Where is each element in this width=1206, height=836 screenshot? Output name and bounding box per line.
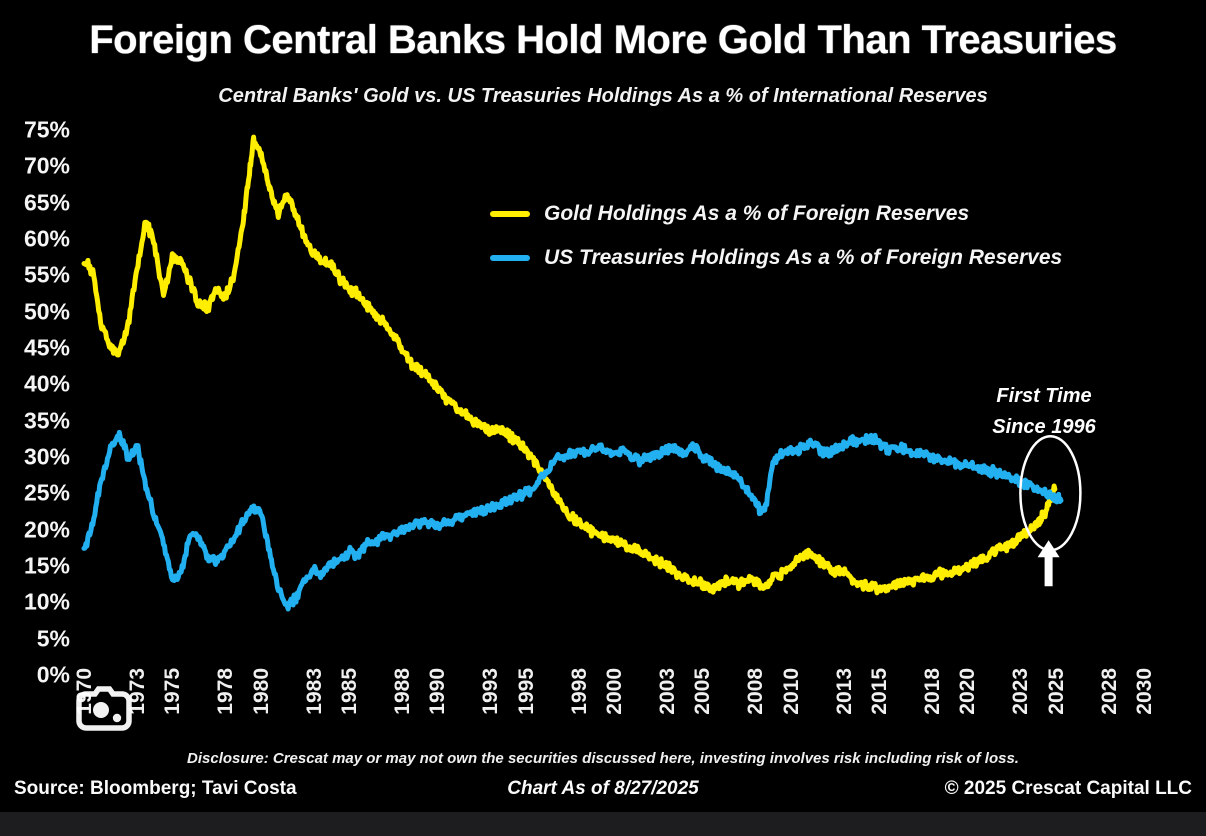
x-axis-tick: 1993 [479,668,503,715]
legend-item-treasuries[interactable]: US Treasuries Holdings As a % of Foreign… [490,236,1062,280]
y-axis-tick: 15% [0,553,70,580]
y-axis: 0%5%10%15%20%25%30%35%40%45%50%55%60%65%… [0,130,78,690]
y-axis-tick: 70% [0,153,70,180]
x-axis-tick: 2005 [691,668,715,715]
x-axis-tick: 1988 [391,668,415,715]
x-axis-tick: 1980 [250,668,274,715]
x-axis-tick: 2015 [868,668,892,715]
y-axis-tick: 50% [0,298,70,325]
y-axis-tick: 25% [0,480,70,507]
x-axis-tick: 2000 [603,668,627,715]
x-axis-tick: 2025 [1045,668,1069,715]
x-axis-tick: 1978 [214,668,238,715]
y-axis-tick: 65% [0,189,70,216]
annotation-line-2: Since 1996 [936,412,1152,443]
x-axis-tick: 2008 [744,668,768,715]
legend-swatch-gold [490,211,530,217]
y-axis-tick: 10% [0,589,70,616]
legend-item-gold[interactable]: Gold Holdings As a % of Foreign Reserves [490,192,1062,236]
chart-root: Foreign Central Banks Hold More Gold Tha… [0,0,1206,836]
x-axis-tick: 2023 [1009,668,1033,715]
annotation-line-1: First Time [936,381,1152,412]
page-subtitle: Central Banks' Gold vs. US Treasuries Ho… [0,85,1206,108]
footer-copyright: © 2025 Crescat Capital LLC [945,778,1192,800]
y-axis-tick: 40% [0,371,70,398]
x-axis-tick: 1975 [161,668,185,715]
bottom-bar [0,812,1206,836]
x-axis-tick: 1990 [426,668,450,715]
x-axis-tick: 2003 [656,668,680,715]
y-axis-tick: 60% [0,226,70,253]
y-axis-tick: 5% [0,625,70,652]
x-axis-tick: 1998 [568,668,592,715]
page-title: Foreign Central Banks Hold More Gold Tha… [0,18,1206,63]
x-axis-tick: 1995 [515,668,539,715]
chart-legend: Gold Holdings As a % of Foreign Reserves… [490,192,1062,280]
y-axis-tick: 45% [0,335,70,362]
y-axis-tick: 35% [0,407,70,434]
camera-icon [72,676,136,740]
x-axis-tick: 2020 [956,668,980,715]
x-axis-tick: 2010 [780,668,804,715]
y-axis-tick: 75% [0,117,70,144]
legend-label-treasuries: US Treasuries Holdings As a % of Foreign… [544,246,1062,270]
annotation-first-time: First Time Since 1996 [936,381,1152,443]
x-axis-tick: 2030 [1133,668,1157,715]
footer-row: Source: Bloomberg; Tavi Costa Chart As o… [0,778,1206,810]
x-axis-tick: 2018 [921,668,945,715]
y-axis-tick: 30% [0,444,70,471]
x-axis-tick: 2013 [833,668,857,715]
legend-label-gold: Gold Holdings As a % of Foreign Reserves [544,202,969,226]
x-axis: 1970197319751978198019831985198819901993… [0,668,1206,750]
y-axis-tick: 20% [0,516,70,543]
legend-swatch-treasuries [490,255,530,261]
x-axis-tick: 1983 [303,668,327,715]
x-axis-tick: 1985 [338,668,362,715]
y-axis-tick: 55% [0,262,70,289]
disclosure-text: Disclosure: Crescat may or may not own t… [0,750,1206,767]
x-axis-tick: 2028 [1098,668,1122,715]
